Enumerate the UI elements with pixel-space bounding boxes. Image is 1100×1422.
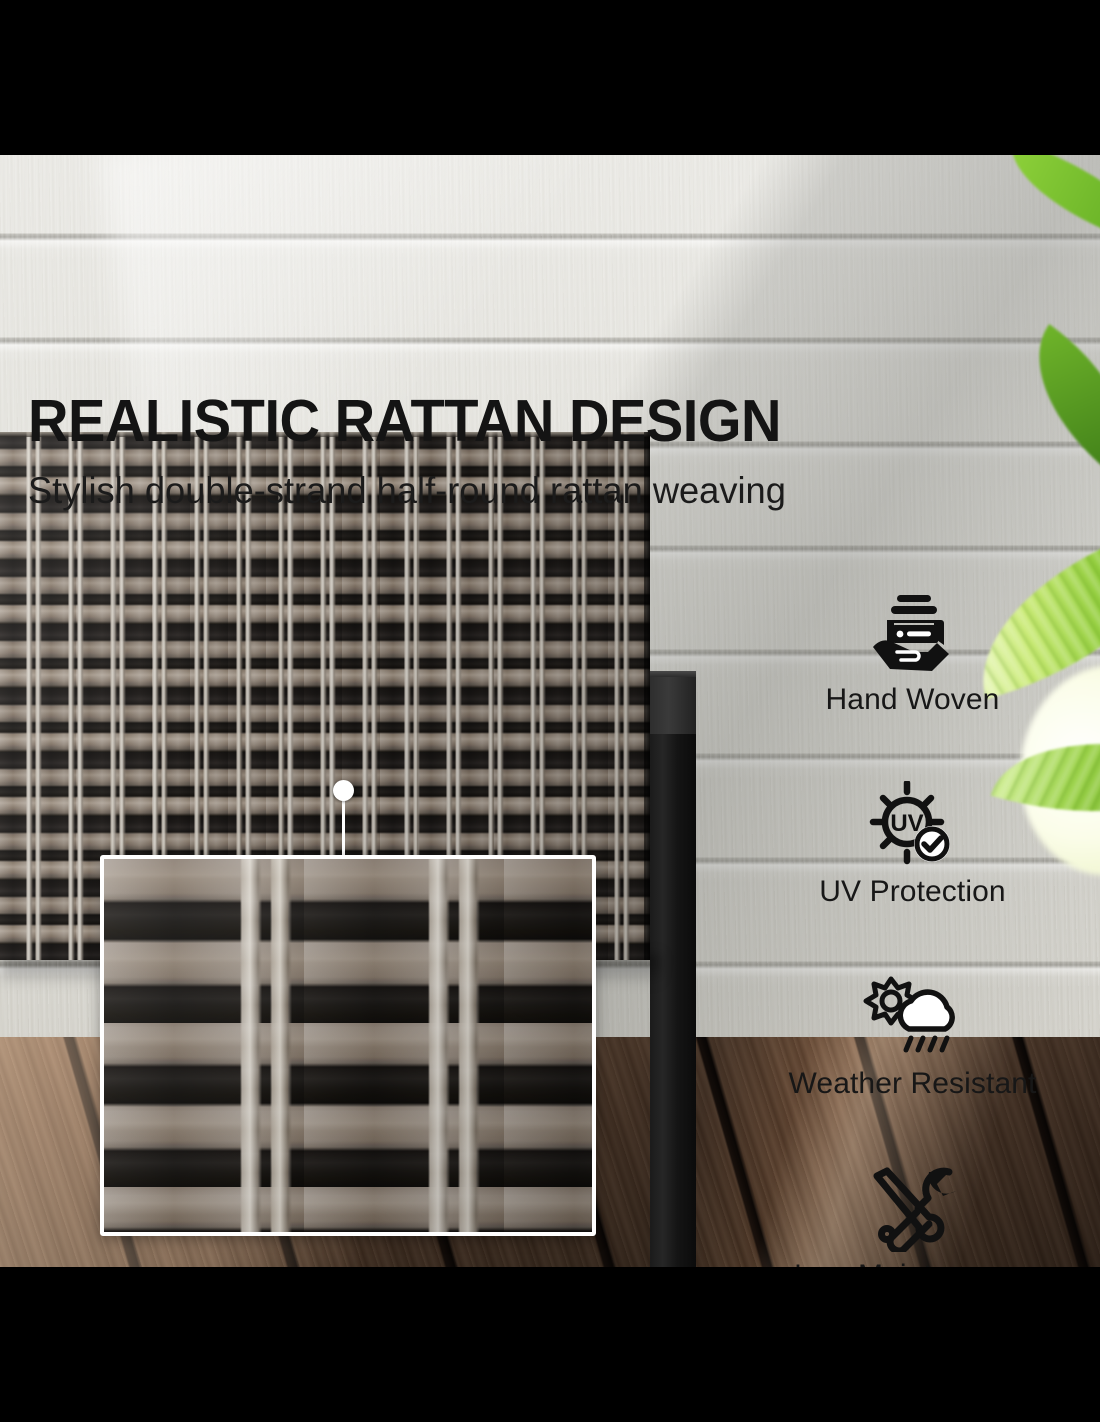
page-subtitle: Stylish double-strand half-round rattan … (28, 470, 786, 512)
hand-woven-icon (867, 585, 959, 681)
feature-label: UV Protection (819, 875, 1005, 909)
low-maintenance-icon (865, 1161, 961, 1257)
feature-label: Weather Resistant (789, 1067, 1037, 1101)
page-title: REALISTIC RATTAN DESIGN (28, 387, 781, 455)
weather-resistant-icon (861, 969, 965, 1065)
letterbox-top (0, 0, 1100, 155)
feature-item-weather-resistant: Weather Resistant (740, 969, 1085, 1161)
lifestyle-photo: REALISTIC RATTAN DESIGN Stylish double-s… (0, 155, 1100, 1267)
zoom-pin-stem (342, 800, 345, 860)
feature-list: Hand Woven (740, 585, 1085, 1267)
furniture-leg-top-face (650, 671, 696, 677)
rattan-weave-zoom-callout (100, 855, 596, 1236)
zoom-weave-shading (104, 859, 592, 1232)
feature-label: Hand Woven (826, 683, 1000, 717)
uv-protection-icon: UV (867, 777, 959, 873)
letterbox-bottom (0, 1267, 1100, 1422)
furniture-leg-top (650, 671, 696, 734)
product-feature-banner: REALISTIC RATTAN DESIGN Stylish double-s… (0, 0, 1100, 1422)
feature-label: Low Maintenance (794, 1259, 1031, 1267)
feature-item-low-maintenance: Low Maintenance (740, 1161, 1085, 1267)
zoom-pin-head-icon (333, 780, 354, 801)
feature-item-hand-woven: Hand Woven (740, 585, 1085, 777)
feature-item-uv-protection: UV UV Protection (740, 777, 1085, 969)
